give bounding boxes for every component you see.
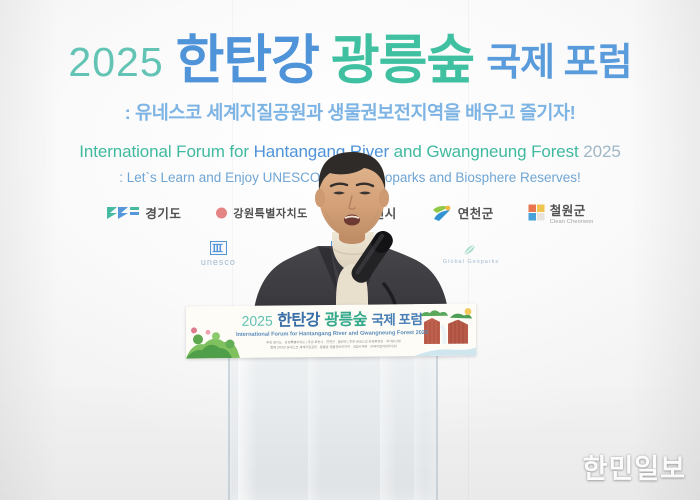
lectern-gloss: [414, 356, 424, 500]
lectern-banner-english: International Forum for Hantangang River…: [232, 330, 432, 338]
lectern-banner-gwangneung: 광릉숲: [324, 312, 367, 329]
lectern-gloss: [308, 356, 320, 500]
lectern-gloss: [238, 356, 256, 500]
lectern-banner: 2025 한탄강 광릉숲 국제 포럼 International Forum f…: [186, 303, 476, 358]
screenshot-root: 2025 한탄강 광릉숲 국제 포럼 : 유네스코 세계지질공원과 생물권보전지…: [0, 0, 700, 500]
lectern-banner-hantangang: 한탄강: [277, 312, 320, 329]
lectern-gloss: [380, 356, 396, 500]
lectern-banner-art: 2025 한탄강 광릉숲 국제 포럼 International Forum f…: [186, 303, 476, 358]
lectern-banner-year: 2025: [242, 313, 273, 329]
lectern-body: [228, 356, 438, 500]
watermark-hanmin-ilbo: 한민일보: [583, 447, 686, 486]
lectern-banner-credits: 주최 경기도 · 강원특별자치도 | 주관 포천시 · 연천군 · 철원군 | …: [236, 339, 431, 352]
lectern: 2025 한탄강 광릉숲 국제 포럼 International Forum f…: [0, 0, 700, 500]
lectern-credits-line-2: 협력 한탄강 유네스코 세계지질공원 · 광릉숲 생물권보전지역 · 국립수목원…: [236, 344, 431, 351]
lectern-banner-forum: 국제 포럼: [371, 312, 422, 328]
lectern-banner-title: 2025 한탄강 광릉숲 국제 포럼: [232, 312, 432, 330]
